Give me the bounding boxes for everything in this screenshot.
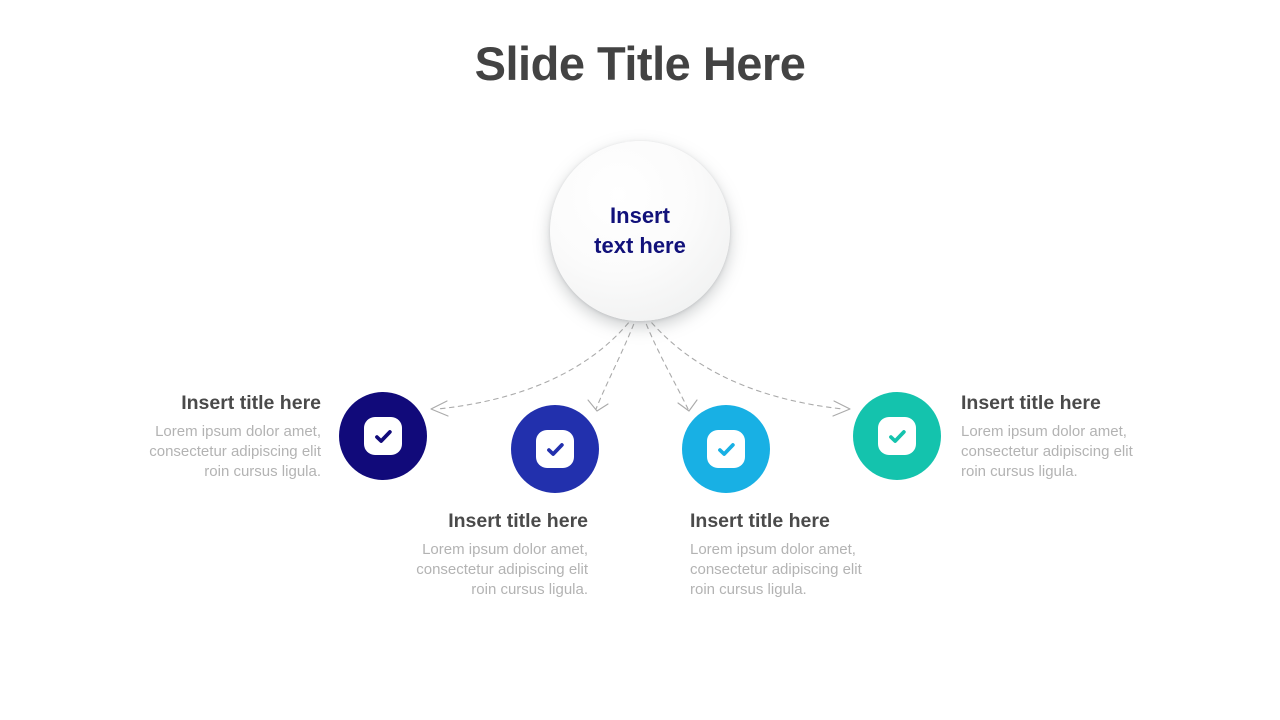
connector-arrow-2 xyxy=(596,316,637,409)
node-title-3: Insert title here xyxy=(690,510,879,533)
node-title-2: Insert title here xyxy=(399,510,588,533)
node-title-4: Insert title here xyxy=(961,392,1150,415)
center-hub-circle[interactable]: Insert text here xyxy=(550,141,730,321)
node-body-3: Lorem ipsum dolor amet, consectetur adip… xyxy=(690,540,879,600)
node-body-2: Lorem ipsum dolor amet, consectetur adip… xyxy=(399,540,588,600)
slide-canvas: Slide Title Here Insert text here xyxy=(0,0,1280,720)
node-circle-4[interactable] xyxy=(853,392,941,480)
arrowhead-2 xyxy=(588,400,608,411)
arrowhead-1 xyxy=(431,401,448,416)
node-text-block-3: Insert title here Lorem ipsum dolor amet… xyxy=(690,510,879,600)
check-badge-3 xyxy=(707,430,745,468)
node-text-block-4: Insert title here Lorem ipsum dolor amet… xyxy=(961,392,1150,482)
check-badge-4 xyxy=(878,417,916,455)
check-circle-icon xyxy=(545,439,566,460)
connector-arrow-3 xyxy=(643,316,688,409)
connector-arrows xyxy=(0,0,1280,720)
connector-arrow-4 xyxy=(646,316,843,409)
node-body-4: Lorem ipsum dolor amet, consectetur adip… xyxy=(961,422,1150,482)
arrowhead-4 xyxy=(833,401,850,416)
check-circle-icon xyxy=(887,426,908,447)
node-title-1: Insert title here xyxy=(132,392,321,415)
check-circle-icon xyxy=(716,439,737,460)
node-text-block-1: Insert title here Lorem ipsum dolor amet… xyxy=(132,392,321,482)
check-badge-1 xyxy=(364,417,402,455)
arrowhead-3 xyxy=(678,400,697,411)
connector-arrow-1 xyxy=(438,316,634,409)
node-text-block-2: Insert title here Lorem ipsum dolor amet… xyxy=(399,510,588,600)
check-badge-2 xyxy=(536,430,574,468)
node-circle-2[interactable] xyxy=(511,405,599,493)
check-circle-icon xyxy=(373,426,394,447)
node-circle-1[interactable] xyxy=(339,392,427,480)
page-title: Slide Title Here xyxy=(0,38,1280,90)
node-body-1: Lorem ipsum dolor amet, consectetur adip… xyxy=(132,422,321,482)
center-hub-label: Insert text here xyxy=(594,201,686,260)
node-circle-3[interactable] xyxy=(682,405,770,493)
